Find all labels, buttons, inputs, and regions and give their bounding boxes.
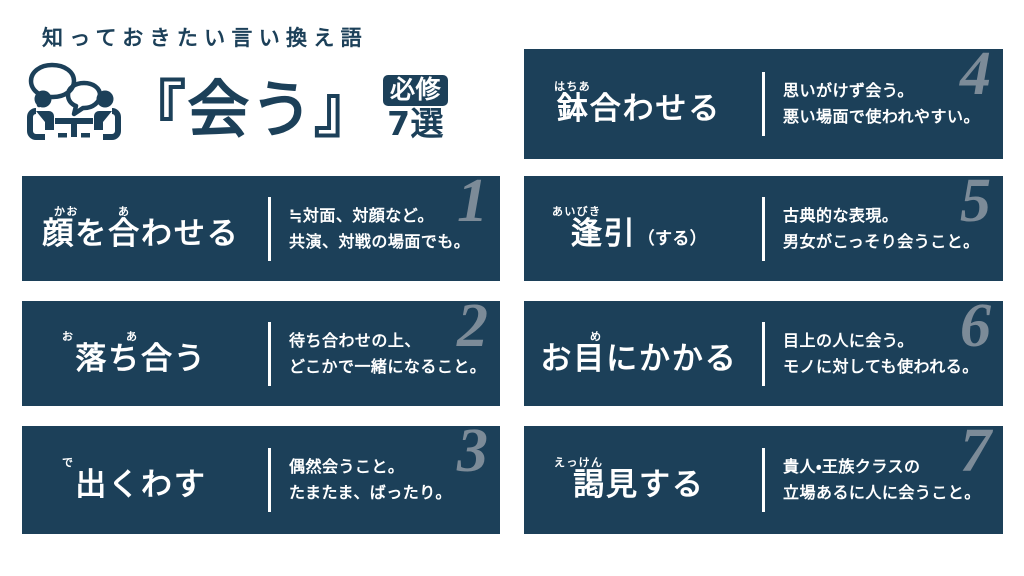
term-word: 謁見する (573, 468, 704, 502)
term-word: 落ち合う (75, 342, 206, 376)
description-line: 悪い場面で使われやすい。 (783, 104, 1003, 130)
required-badge: 必修 7選 (383, 75, 448, 143)
furigana-part: えっけん (554, 457, 603, 468)
badge-count-label: 7選 (387, 107, 444, 142)
card-description: 目上の人に会う。モノに対しても使われる。 (783, 301, 1003, 406)
card-term: はちあ鉢合わせる (524, 49, 754, 159)
term-text: 出くわす (75, 468, 206, 502)
term-text: 謁見する (573, 468, 704, 502)
term-furigana: おあ (22, 329, 260, 342)
term-furigana: はちあ (524, 79, 754, 92)
header-main-row: 『会う』 必修 7選 (22, 57, 500, 143)
term-text: 逢引（する） (571, 217, 707, 251)
card-term: かおあ顔を合わせる (22, 176, 260, 281)
card-description: 偶然会うこと。たまたま、ばったり。 (289, 426, 500, 534)
description-line: 立場あるに人に会うこと。 (783, 480, 1003, 506)
page-title: 『会う』 (124, 80, 377, 143)
description-line: たまたま、ばったり。 (289, 480, 500, 506)
term-word: 鉢合わせる (557, 92, 721, 126)
meeting-discussion-icon (22, 61, 126, 143)
phrase-card: あいびき逢引（する）古典的な表現。男女がこっそり会うこと。5 (524, 176, 1003, 281)
term-text: 鉢合わせる (557, 92, 721, 126)
header: 知っておきたい言い換え語 『会う』 (22, 28, 500, 168)
phrase-card: めお目にかかる目上の人に会う。モノに対しても使われる。6 (524, 301, 1003, 406)
card-description: 思いがけず会う。悪い場面で使われやすい。 (783, 49, 1003, 159)
furigana-part: あ (126, 331, 138, 342)
term-furigana: め (524, 329, 754, 342)
card-divider (268, 322, 271, 386)
term-furigana: で (22, 455, 260, 468)
card-divider (268, 197, 271, 261)
phrase-card: えっけん謁見する貴人・王族クラスの立場あるに人に会うこと。7 (524, 426, 1003, 534)
term-word: 顔を合わせる (42, 217, 239, 251)
description-line: 古典的な表現。 (783, 203, 1003, 229)
furigana-part: で (62, 457, 74, 468)
term-text: 落ち合う (75, 342, 206, 376)
card-description: 貴人・王族クラスの立場あるに人に会うこと。 (783, 426, 1003, 534)
term-furigana: えっけん (524, 455, 754, 468)
description-line: モノに対しても使われる。 (783, 354, 1003, 380)
term-word: 出くわす (75, 468, 206, 502)
term-word: 逢引 (571, 217, 637, 251)
description-line: 男女がこっそり会うこと。 (783, 229, 1003, 255)
description-line: ≒対面、対顔など。 (289, 203, 500, 229)
card-description: 待ち合わせの上、どこかで一緒になること。 (289, 301, 500, 406)
card-divider (762, 448, 765, 512)
term-suffix: （する） (638, 230, 707, 249)
description-line: 待ち合わせの上、 (289, 328, 500, 354)
phrase-card: はちあ鉢合わせる思いがけず会う。悪い場面で使われやすい。4 (524, 49, 1003, 159)
term-text: 顔を合わせる (42, 217, 239, 251)
badge-tag-label: 必修 (383, 75, 448, 106)
description-line: 思いがけず会う。 (783, 78, 1003, 104)
description-line: 目上の人に会う。 (783, 328, 1003, 354)
card-term: おあ落ち合う (22, 301, 260, 406)
phrase-card: おあ落ち合う待ち合わせの上、どこかで一緒になること。2 (22, 301, 500, 406)
furigana-part: はちあ (554, 81, 591, 92)
header-subtitle: 知っておきたい言い換え語 (22, 28, 500, 49)
furigana-part: あ (118, 206, 130, 217)
term-text: お目にかかる (540, 342, 737, 376)
infographic-canvas: 知っておきたい言い換え語 『会う』 (0, 0, 1024, 576)
description-line: 貴人・王族クラスの (783, 454, 1003, 480)
description-line: 偶然会うこと。 (289, 454, 500, 480)
term-word: お目にかかる (540, 342, 737, 376)
furigana-part: め (590, 331, 602, 342)
card-description: 古典的な表現。男女がこっそり会うこと。 (783, 176, 1003, 281)
card-divider (762, 72, 765, 136)
term-furigana: あいびき (524, 204, 754, 217)
card-divider (268, 448, 271, 512)
card-divider (762, 322, 765, 386)
card-term: あいびき逢引（する） (524, 176, 754, 281)
furigana-part: かお (54, 206, 79, 217)
description-line: どこかで一緒になること。 (289, 354, 500, 380)
card-term: めお目にかかる (524, 301, 754, 406)
term-furigana: かおあ (22, 204, 260, 217)
card-description: ≒対面、対顔など。共演、対戦の場面でも。 (289, 176, 500, 281)
description-line: 共演、対戦の場面でも。 (289, 229, 500, 255)
card-term: で出くわす (22, 426, 260, 534)
card-divider (762, 197, 765, 261)
phrase-card: かおあ顔を合わせる≒対面、対顔など。共演、対戦の場面でも。1 (22, 176, 500, 281)
furigana-part: お (62, 331, 74, 342)
phrase-card: で出くわす偶然会うこと。たまたま、ばったり。3 (22, 426, 500, 534)
furigana-part: あいびき (552, 206, 601, 217)
card-term: えっけん謁見する (524, 426, 754, 534)
